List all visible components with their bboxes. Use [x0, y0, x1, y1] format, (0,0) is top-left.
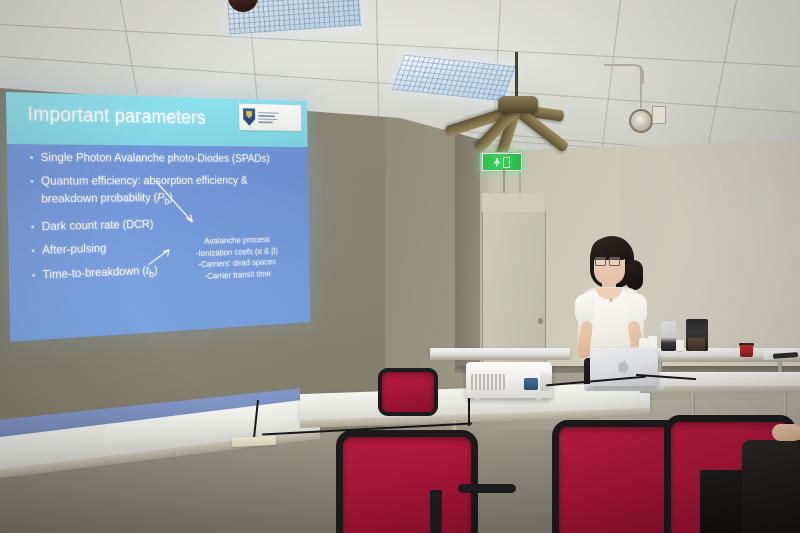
bullet-dot-icon [31, 180, 34, 183]
red-mug [740, 345, 753, 357]
seated-attendee [742, 440, 800, 533]
door[interactable] [482, 212, 546, 370]
crest-icon [243, 108, 255, 126]
bullet-dot-icon [32, 273, 35, 276]
apple-logo-icon [618, 360, 629, 373]
bullet-dot-icon [30, 156, 33, 159]
projector: · · · · · · [466, 362, 552, 398]
seated-attendee-arm [772, 424, 800, 441]
list-item-continuation: breakdown probability (Pb) [41, 190, 301, 211]
chair-foreground-left[interactable] [336, 430, 464, 533]
door-knob-icon[interactable] [538, 318, 543, 324]
coffee-pot [688, 338, 705, 351]
bullet-text: Single Photon Avalanche photo-Diodes (SP… [40, 150, 269, 165]
bullet-text-continued: breakdown probability (Pb) [41, 191, 173, 211]
bullet-dot-icon [32, 250, 35, 253]
list-item: Single Photon Avalanche photo-Diodes (SP… [30, 150, 300, 166]
chair-leg [458, 484, 516, 493]
door-transom [482, 193, 544, 214]
far-back-table-edge [430, 356, 570, 360]
projector-vent [471, 374, 505, 390]
wall-vent-fan-icon [629, 109, 653, 133]
bullet-text: Dark count rate (DCR) [42, 218, 154, 235]
projector-cable-2 [468, 398, 470, 426]
bullet-text: Time-to-breakdown (tb) [42, 263, 157, 286]
wall-control-box [652, 106, 666, 124]
list-item: Dark count rate (DCR) [31, 215, 301, 235]
chair-foreground-center[interactable] [552, 420, 672, 533]
chair-back-row[interactable] [378, 368, 430, 408]
necklace-icon [609, 298, 613, 302]
bullet-dot-icon [31, 226, 34, 229]
far-back-table [430, 348, 570, 356]
exit-sign [481, 152, 523, 172]
glasses-icon [595, 257, 619, 264]
annotation-arrow-short [147, 247, 173, 267]
logo-wordmark [258, 112, 279, 123]
sleeve-right [628, 294, 647, 324]
projector-ports [524, 378, 538, 390]
right-table-edge [640, 386, 800, 393]
running-person-icon [494, 158, 501, 167]
door-glyph-icon [503, 157, 510, 168]
subscript-b: b [149, 269, 154, 280]
slide-title: Important parameters [27, 102, 206, 129]
projector-lens-icon [540, 373, 552, 391]
projected-slide: Important parameters Single Photon Avala… [6, 92, 310, 342]
bullet-text: Quantum efficiency: absorption efficienc… [41, 174, 248, 189]
university-crest-logo [239, 104, 301, 131]
bullet-text: After-pulsing [42, 242, 106, 259]
list-item: Quantum efficiency: absorption efficienc… [30, 174, 300, 189]
conduit-pipe-vertical [640, 66, 642, 108]
conduit-pipe [604, 64, 644, 84]
subscript-b: b [164, 197, 169, 207]
slide-annotation: Avalanche process -Ionization coefs (α &… [177, 234, 295, 285]
seminar-room-photo: Important parameters Single Photon Avala… [0, 0, 800, 533]
blender [661, 321, 676, 351]
sleeve-left [575, 294, 594, 324]
chair-leg [430, 490, 442, 533]
paper-cup [676, 340, 684, 351]
ponytail [626, 260, 643, 290]
